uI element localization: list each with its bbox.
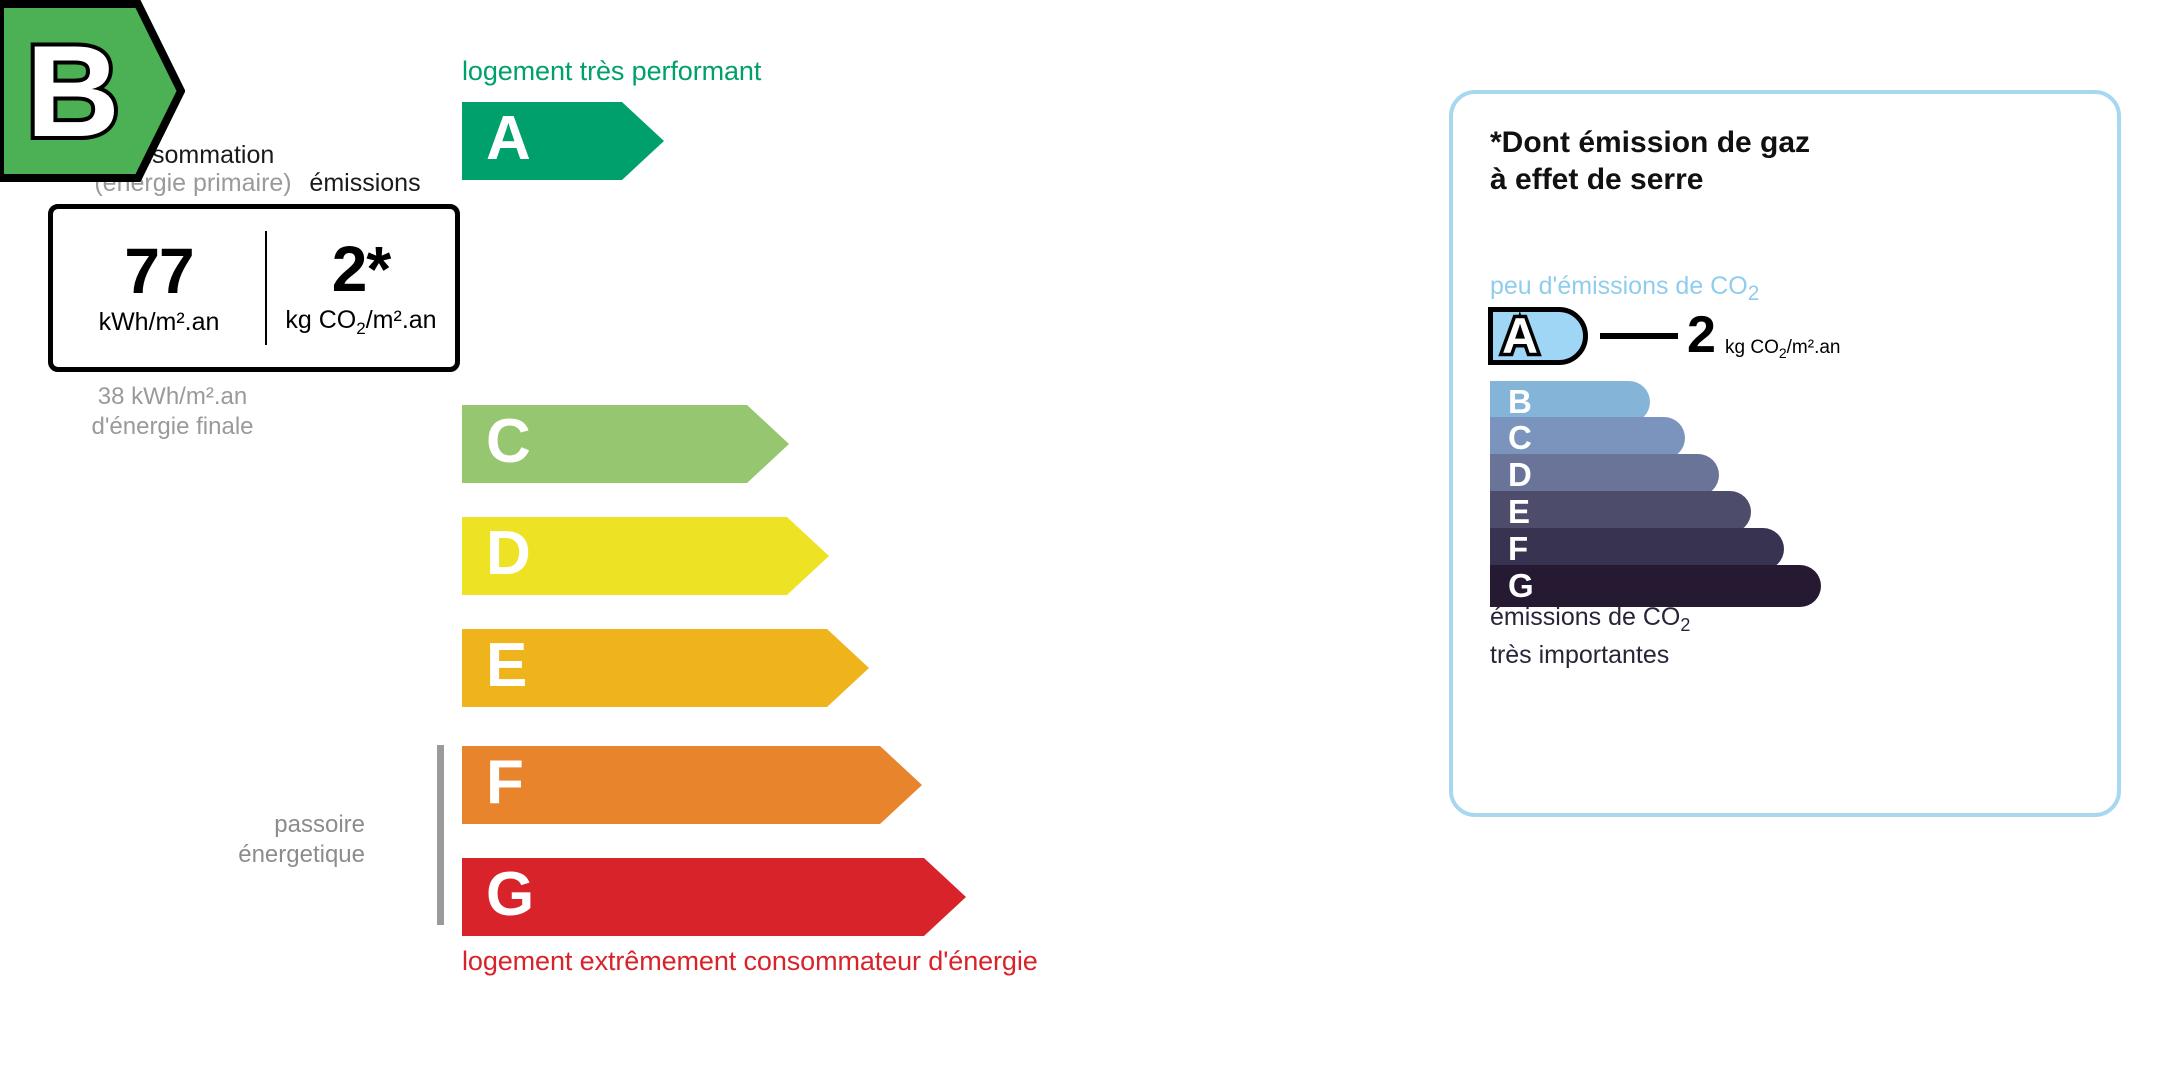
energy-class-A-letter: A: [486, 108, 531, 170]
energy-class-A-tip: [622, 102, 664, 180]
co2-class-E-letter: E: [1508, 495, 1530, 528]
energy-class-F-tip: [880, 746, 922, 824]
co2-footer: émissions de CO2 très importantes: [1490, 602, 1690, 670]
co2-class-A-selected: A: [1488, 307, 1588, 365]
energy-class-G: G: [462, 858, 966, 936]
energy-class-A: A: [462, 102, 664, 180]
co2-footer-line2: très importantes: [1490, 640, 1690, 670]
label-emissions: émissions: [290, 169, 440, 198]
top-caption: logement très performant: [462, 56, 761, 87]
energy-class-E-tip: [827, 629, 869, 707]
energy-class-G-body: G: [462, 858, 924, 936]
energy-performance-panel: logement très performant consommation (é…: [0, 0, 1400, 1079]
energy-class-C-letter: C: [486, 411, 531, 473]
co2-class-G: G: [1490, 565, 1821, 607]
final-energy-line1: 38 kWh/m².an: [40, 382, 305, 412]
energy-class-A-body: A: [462, 102, 622, 180]
co2-class-C-letter: C: [1508, 421, 1532, 454]
co2-title-line2: à effet de serre: [1490, 161, 1810, 198]
co2-leader-line: [1600, 333, 1678, 339]
energy-class-D-tip: [787, 517, 829, 595]
energy-class-B-shape: B: [0, 0, 185, 182]
consumption-unit: kWh/m².an: [99, 308, 220, 337]
emissions-value-cell: 2* kg CO2/m².an: [267, 209, 455, 367]
consumption-value: 77: [124, 240, 193, 302]
co2-value-unit: kg CO2/m².an: [1725, 337, 1841, 361]
co2-class-A-letter: A: [1502, 312, 1538, 360]
passoire-label: passoire énergetique: [205, 810, 365, 870]
energy-class-E-body: E: [462, 629, 827, 707]
energy-class-D-body: D: [462, 517, 787, 595]
co2-class-G-letter: G: [1508, 569, 1534, 602]
co2-class-B-letter: B: [1508, 385, 1532, 418]
passoire-line2: énergetique: [205, 840, 365, 870]
energy-class-E: E: [462, 629, 869, 707]
energy-class-F-letter: F: [486, 752, 524, 814]
co2-value: 2: [1687, 306, 1716, 364]
co2-class-E: E: [1490, 491, 1751, 533]
energy-class-F-body: F: [462, 746, 880, 824]
energy-class-D: D: [462, 517, 829, 595]
bottom-caption: logement extrêmement consommateur d'éner…: [462, 946, 1038, 977]
energy-class-F: F: [462, 746, 922, 824]
co2-title-line1: *Dont émission de gaz: [1490, 124, 1810, 161]
co2-panel: *Dont émission de gaz à effet de serre p…: [1449, 90, 2121, 817]
co2-class-F: F: [1490, 528, 1784, 570]
value-box: 77 kWh/m².an 2* kg CO2/m².an: [48, 204, 460, 372]
energy-class-E-letter: E: [486, 635, 527, 697]
co2-panel-title: *Dont émission de gaz à effet de serre: [1490, 124, 1810, 198]
emissions-value: 2*: [332, 238, 391, 300]
co2-class-D-letter: D: [1508, 458, 1532, 491]
passoire-line1: passoire: [205, 810, 365, 840]
co2-class-F-letter: F: [1508, 532, 1528, 565]
energy-class-C-tip: [747, 405, 789, 483]
energy-class-G-tip: [924, 858, 966, 936]
co2-class-D: D: [1490, 454, 1719, 496]
final-energy-note: 38 kWh/m².an d'énergie finale: [40, 382, 305, 442]
emissions-unit: kg CO2/m².an: [285, 306, 436, 339]
energy-class-B-letter: B: [26, 26, 120, 156]
co2-subtitle: peu d'émissions de CO2: [1490, 272, 1759, 306]
co2-footer-line1: émissions de CO2: [1490, 602, 1690, 640]
consumption-value-cell: 77 kWh/m².an: [53, 209, 265, 367]
energy-class-C: C: [462, 405, 789, 483]
passoire-bracket: [437, 745, 444, 925]
energy-class-G-letter: G: [486, 864, 534, 926]
energy-class-D-letter: D: [486, 523, 531, 585]
co2-class-C: C: [1490, 417, 1685, 459]
final-energy-line2: d'énergie finale: [40, 412, 305, 442]
energy-class-C-body: C: [462, 405, 747, 483]
